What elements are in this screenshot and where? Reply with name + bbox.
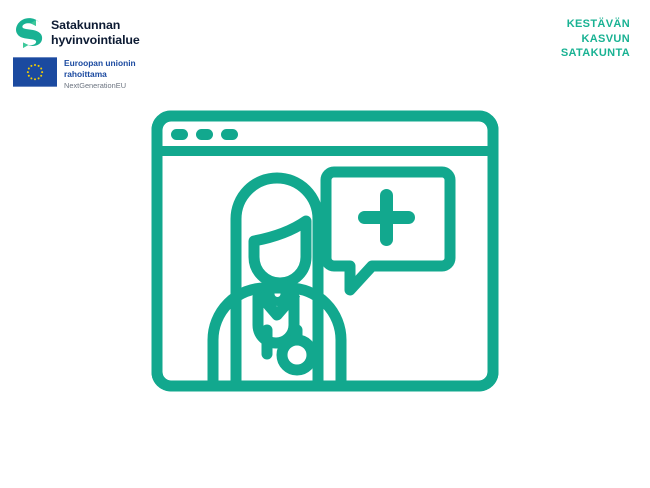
eu-funding-emblem: Euroopan unionin rahoittama NextGenerati… [13,57,203,91]
stethoscope-chestpiece [282,340,312,370]
programme-wordmark: KESTÄVÄN KASVUN SATAKUNTA [561,17,630,61]
eu-funded-by-label: Euroopan unionin rahoittama [64,58,136,79]
browser-titlebar-dots [171,129,238,140]
online-doctor-consultation-illustration [145,104,505,399]
doctor-face [254,221,306,283]
window-dot-icon [221,129,238,140]
doctor-avatar [213,178,341,386]
satakunta-wellbeing-swirl-icon [13,17,43,48]
eu-programme-label: NextGenerationEU [64,81,136,91]
european-union-flag-icon [13,57,57,87]
organization-logo: Satakunnan hyvinvointialue [13,17,203,48]
illustration-canvas [145,104,505,399]
brand-block: Satakunnan hyvinvointialue Euroopan unio… [13,17,203,91]
window-dot-icon [196,129,213,140]
organization-name: Satakunnan hyvinvointialue [51,18,140,47]
eu-funding-text: Euroopan unionin rahoittama NextGenerati… [64,57,136,91]
medical-cross-icon [358,189,415,246]
speech-bubble [326,172,450,290]
window-dot-icon [171,129,188,140]
